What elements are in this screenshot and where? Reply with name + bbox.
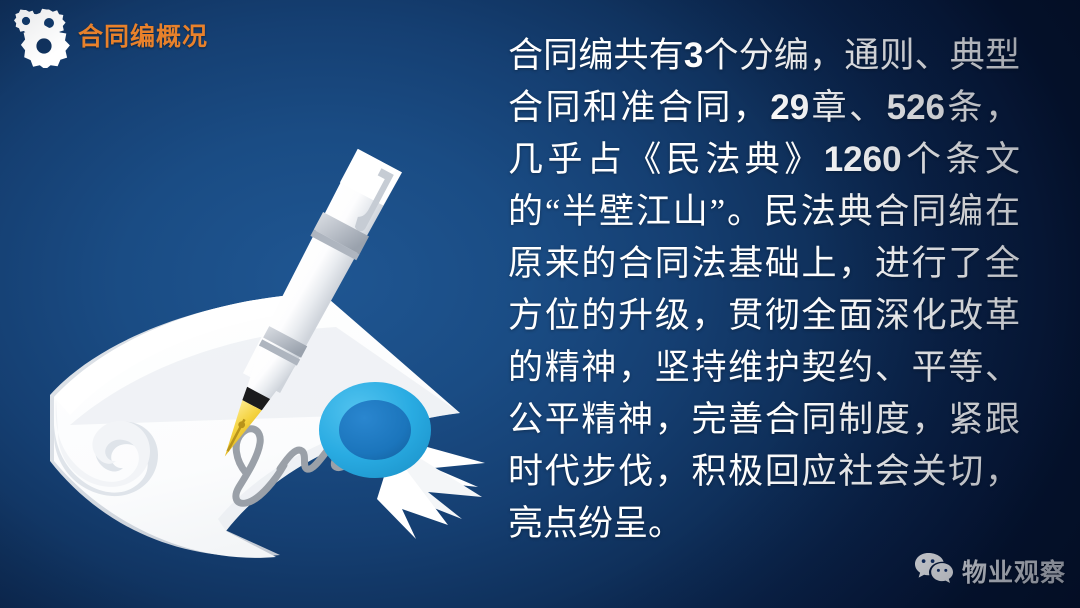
wechat-icon bbox=[914, 551, 954, 590]
text-run: 个条文的“半壁江山”。民法典合同编在原来的合同法基础上，进行了全方位的升级，贯彻… bbox=[508, 140, 1020, 543]
wechat-watermark: 物业观察 bbox=[914, 551, 1066, 590]
wax-seal bbox=[319, 382, 431, 478]
emphasis-run: 29 bbox=[770, 88, 809, 127]
slide-header: 合同编概况 bbox=[0, 0, 420, 74]
watermark-label: 物业观察 bbox=[962, 553, 1066, 589]
contract-signing-illustration bbox=[30, 95, 510, 575]
text-run: 合同编共有 bbox=[508, 36, 684, 75]
emphasis-run: 526 bbox=[887, 88, 945, 127]
text-run: 章、 bbox=[809, 88, 886, 127]
emphasis-run: 3 bbox=[684, 36, 703, 75]
slide-canvas: 合同编概况 bbox=[0, 0, 1080, 608]
body-paragraph: 合同编共有3个分编，通则、典型合同和准合同，29章、526条，几乎占《民法典》1… bbox=[508, 30, 1020, 550]
emphasis-run: 1260 bbox=[824, 140, 902, 179]
page-title: 合同编概况 bbox=[78, 17, 208, 53]
paragraph-runs: 合同编共有3个分编，通则、典型合同和准合同，29章、526条，几乎占《民法典》1… bbox=[508, 36, 1020, 543]
